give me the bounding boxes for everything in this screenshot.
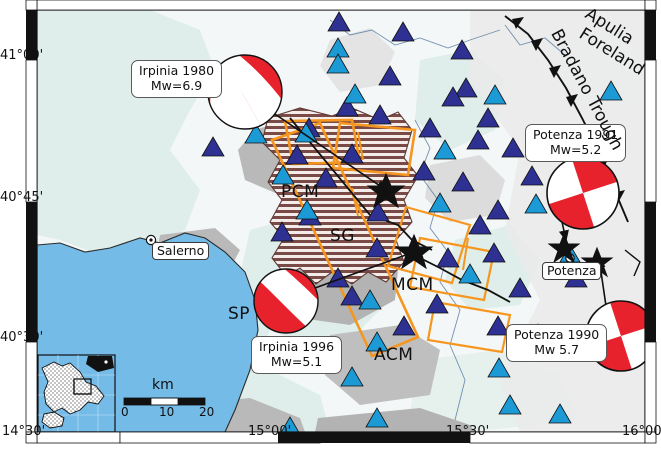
y-tick-0: 41°00' [0,48,43,63]
y-tick-1: 40°45' [0,190,43,205]
seismotectonic-map-figure: 14°30' 15°00' 15°30' 16°00' 41°00' 40°45… [0,0,661,469]
terrane-label-pcm: PCM [281,182,319,202]
callout-irpinia-1980-magnitude: Mw=6.9 [139,79,214,94]
terrane-label-acm: ACM [374,345,413,365]
callout-irpinia-1996-name: Irpinia 1996 [259,340,334,355]
callout-potenza-1990-name: Potenza 1990 [514,328,599,343]
x-tick-0: 14°30' [2,424,45,439]
x-tick-3: 16°00' [622,424,661,439]
terrane-label-sp: SP [228,304,250,324]
callout-potenza-1990-magnitude: Mw 5.7 [514,343,599,358]
city-label-salerno[interactable]: Salerno [152,242,209,260]
terrane-label-mcm: MCM [391,275,434,295]
scalebar-tick-0: 0 [121,405,129,419]
scalebar-tick-2: 20 [199,405,214,419]
scale-bar [124,398,205,405]
scalebar-tick-1: 10 [159,405,174,419]
inset-map [38,355,115,432]
callout-potenza-1990[interactable]: Potenza 1990 Mw 5.7 [506,324,607,362]
callout-irpinia-1996[interactable]: Irpinia 1996 Mw=5.1 [251,336,342,374]
y-tick-2: 40°30' [0,330,43,345]
x-tick-2: 15°30' [446,424,489,439]
city-label-potenza[interactable]: Potenza [542,262,601,280]
scalebar-title: km [152,377,174,393]
callout-irpinia-1996-magnitude: Mw=5.1 [259,355,334,370]
callout-irpinia-1980-name: Irpinia 1980 [139,64,214,79]
callout-irpinia-1980[interactable]: Irpinia 1980 Mw=6.9 [131,60,222,98]
terrane-label-sg: SG [330,226,355,246]
x-tick-1: 15°00' [248,424,291,439]
